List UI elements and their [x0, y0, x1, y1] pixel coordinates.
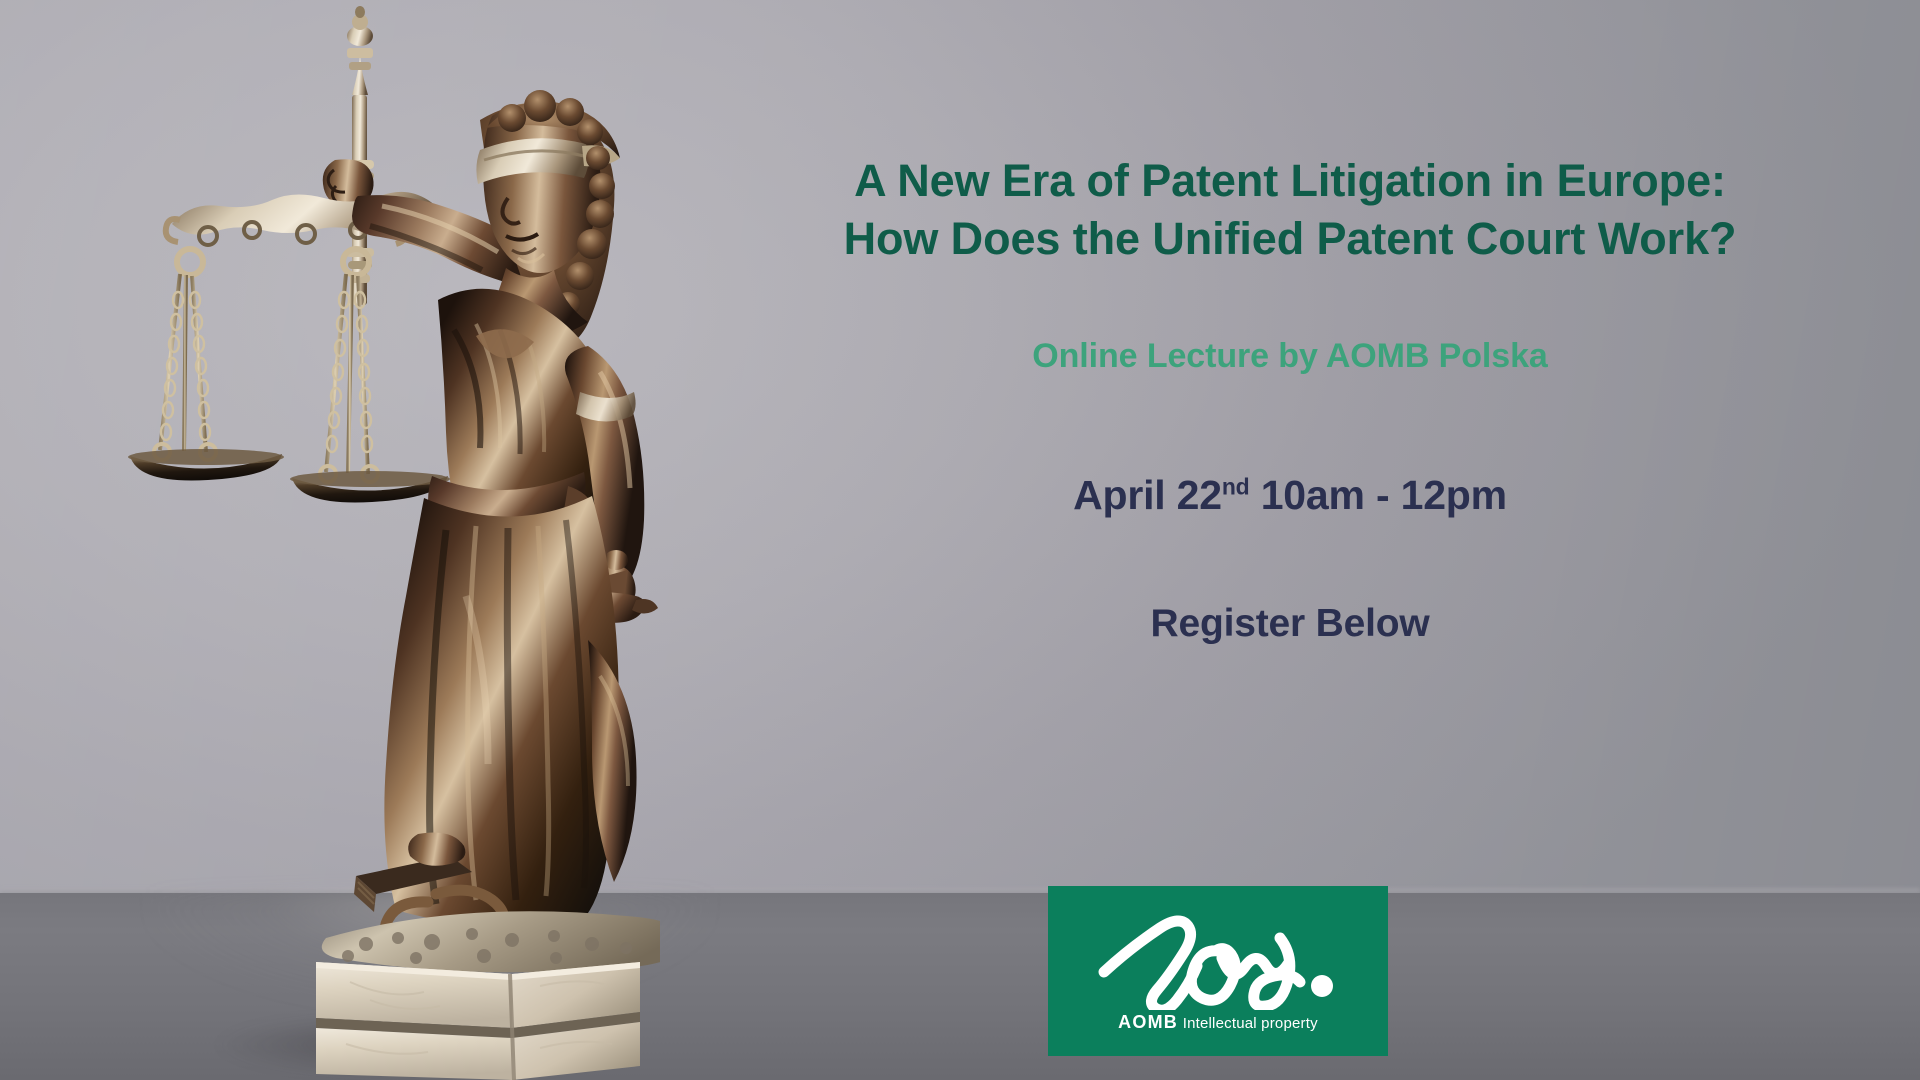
event-time: 10am - 12pm [1250, 472, 1507, 518]
event-date: April 22 [1073, 472, 1222, 518]
date-ordinal-suffix: nd [1222, 473, 1250, 499]
logo-dot [1311, 975, 1333, 997]
event-datetime: April 22nd 10am - 12pm [660, 472, 1920, 519]
subtitle: Online Lecture by AOMB Polska [660, 337, 1920, 376]
aomb-logo: AOMB Intellectual property [1048, 886, 1388, 1056]
aomb-script-mark-icon [1098, 902, 1348, 1010]
scales-left-pan [128, 444, 284, 481]
logo-brand: AOMB [1118, 1012, 1178, 1032]
register-call-to-action: Register Below [660, 602, 1920, 646]
headline-line-2: How Does the Unified Patent Court Work? [660, 210, 1920, 268]
scales-right-pan [290, 466, 450, 503]
poster-canvas: A New Era of Patent Litigation in Europe… [0, 0, 1920, 1080]
page-title: A New Era of Patent Litigation in Europe… [660, 152, 1920, 267]
statue-base [316, 962, 640, 1080]
logo-wordmark: AOMB Intellectual property [1048, 1012, 1388, 1033]
logo-tagline: Intellectual property [1183, 1015, 1318, 1032]
headline-line-1: A New Era of Patent Litigation in Europe… [660, 152, 1920, 210]
lady-justice-statue [120, 0, 660, 1080]
poster-content: A New Era of Patent Litigation in Europe… [660, 0, 1920, 1080]
